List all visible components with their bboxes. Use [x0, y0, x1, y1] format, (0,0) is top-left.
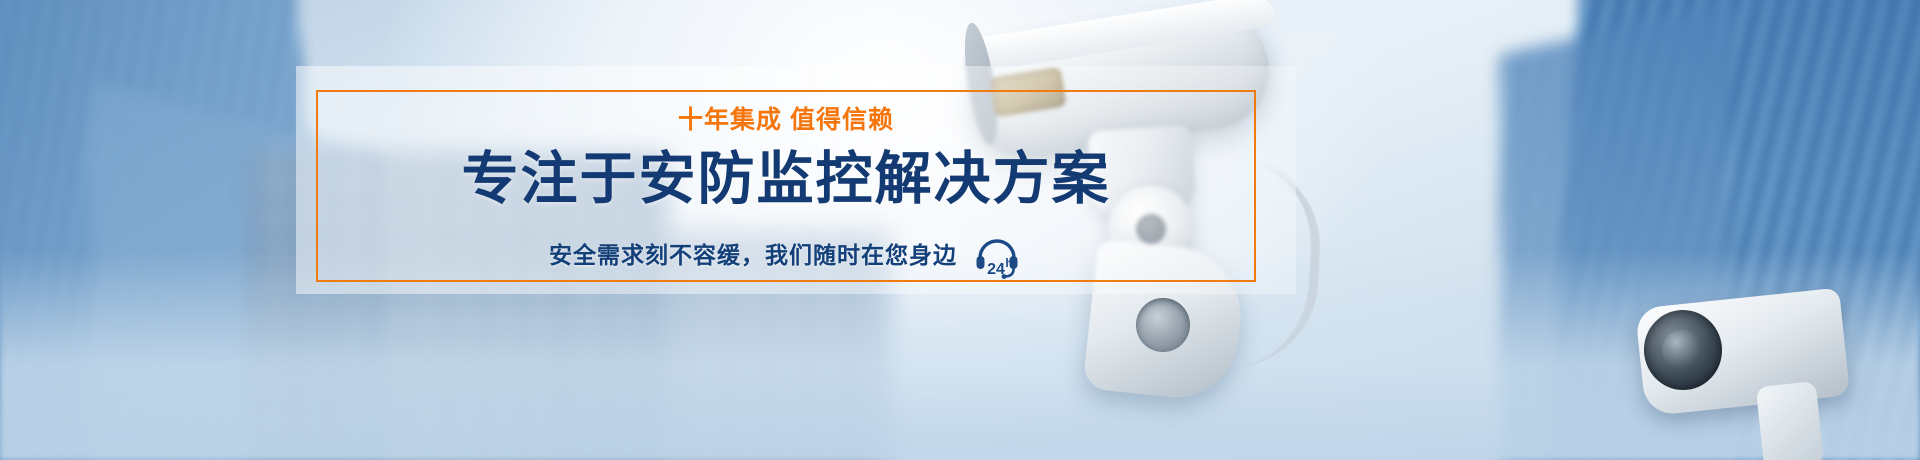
- banner-content: 十年集成 值得信赖 专注于安防监控解决方案 安全需求刻不容缓，我们随时在您身边 …: [316, 90, 1256, 282]
- banner-headline: 专注于安防监控解决方案: [462, 149, 1111, 209]
- badge-number-text: 24: [987, 261, 1005, 278]
- camera2-lens: [1662, 330, 1702, 370]
- banner-subline-row: 安全需求刻不容缓，我们随时在您身边 24 h: [549, 227, 1023, 279]
- camera2-mount: [1756, 381, 1824, 460]
- banner-tagline: 十年集成 值得信赖: [678, 108, 894, 133]
- badge-unit-text: h: [1005, 256, 1012, 270]
- hero-banner: 十年集成 值得信赖 专注于安防监控解决方案 安全需求刻不容缓，我们随时在您身边 …: [0, 0, 1920, 460]
- 24h-support-headset-icon: 24 h: [971, 227, 1023, 279]
- security-camera-secondary: [1640, 288, 1890, 460]
- camera-mount-hole: [1136, 298, 1190, 352]
- banner-subline: 安全需求刻不容缓，我们随时在您身边: [549, 236, 957, 270]
